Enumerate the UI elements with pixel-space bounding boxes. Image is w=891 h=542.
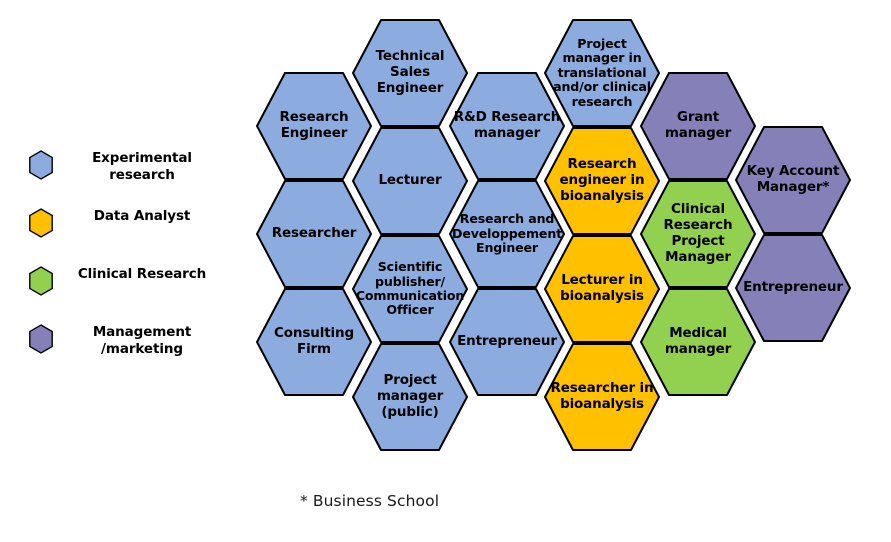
- hexagon-shape: [733, 124, 853, 236]
- footnote: * Business School: [300, 492, 439, 510]
- hexagon-cell[interactable]: Entrepreneur: [733, 232, 853, 344]
- hexagon-cell[interactable]: Key Account Manager*: [733, 124, 853, 236]
- hexagon-grid: Research EngineerResearcherConsulting Fi…: [0, 0, 891, 470]
- hexagon-shape: [733, 232, 853, 344]
